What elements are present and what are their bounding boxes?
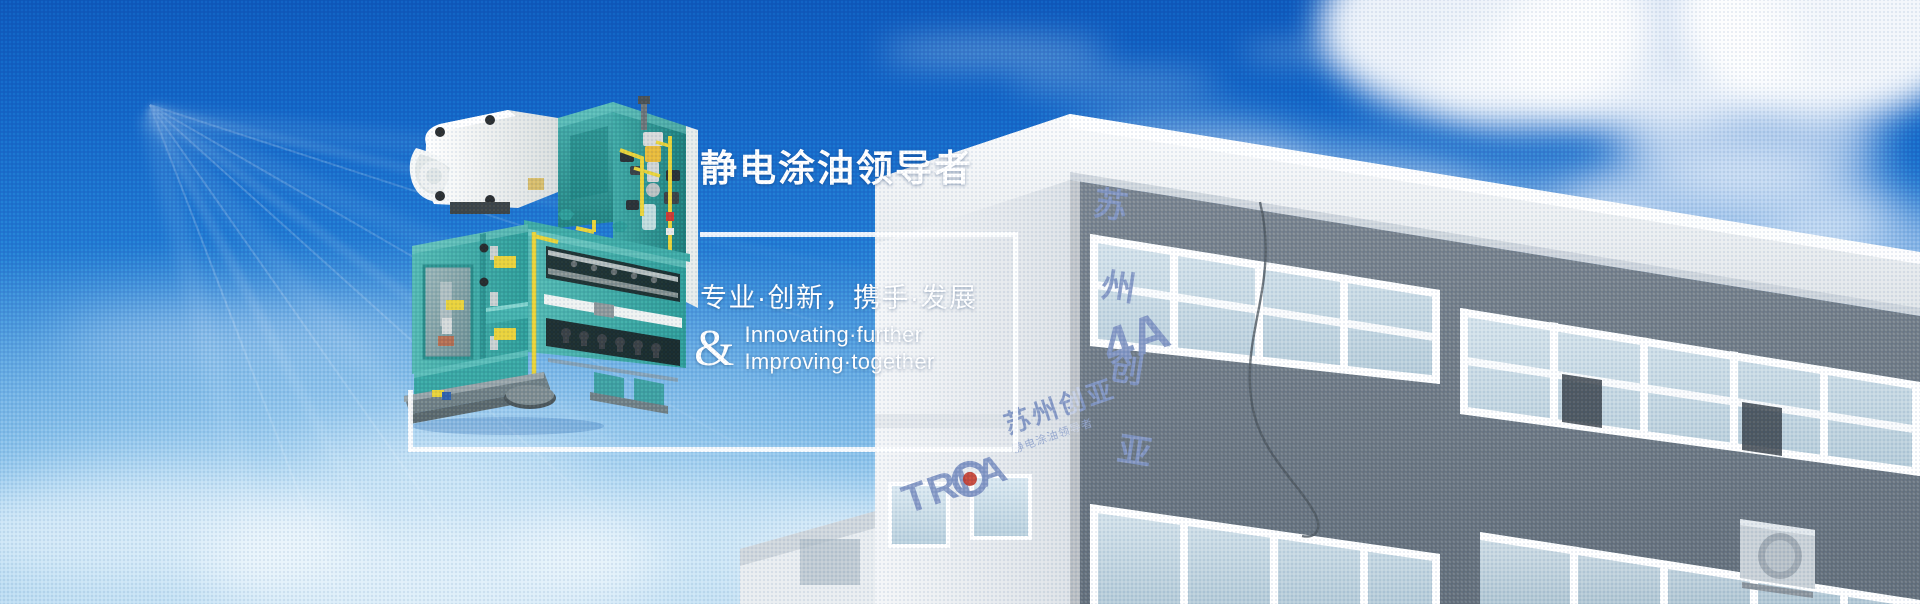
banner-english-block: & Innovating·further Improving·together	[694, 322, 935, 376]
english-line-1: Innovating·further	[744, 322, 934, 349]
banner-subline: 专业·创新，携手·发展	[700, 276, 977, 315]
svg-text:苏: 苏	[1091, 183, 1131, 228]
svg-text:州: 州	[1099, 265, 1139, 310]
hero-banner: TRI A 苏州创亚 静电涂油领导者 4A 苏 州 创 亚	[0, 0, 1920, 604]
svg-text:亚: 亚	[1115, 429, 1155, 474]
english-lines: Innovating·further Improving·together	[744, 322, 934, 376]
ampersand-glyph: &	[694, 323, 734, 375]
banner-headline: 静电涂油领导者	[700, 150, 1040, 187]
product-machine-image	[398, 96, 728, 456]
english-line-2: Improving·together	[744, 349, 934, 376]
svg-text:创: 创	[1106, 347, 1147, 392]
banner-copy: 静电涂油领导者	[700, 150, 1040, 187]
